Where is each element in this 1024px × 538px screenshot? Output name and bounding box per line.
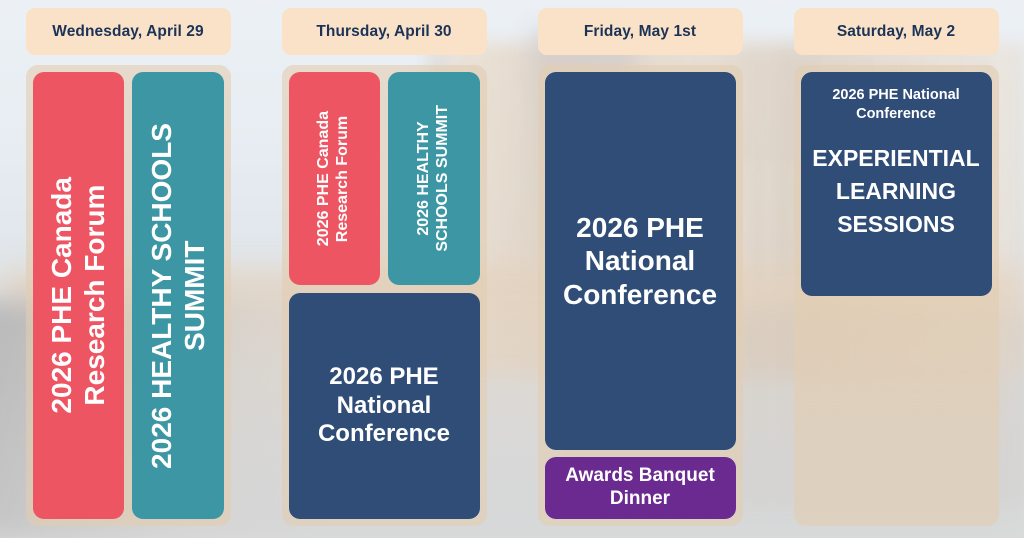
event-card-healthy-schools-summit[interactable]: 2026 HEALTHY SCHOOLS SUMMIT: [132, 72, 224, 519]
event-card-research-forum[interactable]: 2026 PHE Canada Research Forum: [33, 72, 125, 519]
event-card-label: 2026 PHE Canada Research Forum: [45, 177, 111, 414]
event-card-national-conference[interactable]: 2026 PHE National Conference: [289, 293, 480, 519]
event-card-label: 2026 PHE National Conference: [318, 363, 450, 449]
event-card-research-forum[interactable]: 2026 PHE Canada Research Forum: [289, 72, 381, 285]
event-card-label: 2026 HEALTHY SCHOOLS SUMMIT: [145, 123, 211, 469]
event-card-label: 2026 HEALTHY SCHOOLS SUMMIT: [415, 105, 453, 252]
event-card-subtitle: 2026 PHE National Conference: [832, 86, 959, 124]
day-columns: Wednesday, April 29 2026 PHE Canada Rese…: [0, 0, 1024, 538]
day-column-wednesday: Wednesday, April 29 2026 PHE Canada Rese…: [0, 8, 256, 526]
day-column-friday: Friday, May 1st 2026 PHE National Confer…: [512, 8, 768, 526]
event-panel-saturday: 2026 PHE National Conference EXPERIENTIA…: [794, 65, 999, 526]
schedule-graphic: Wednesday, April 29 2026 PHE Canada Rese…: [0, 0, 1024, 538]
day-column-saturday: Saturday, May 2 2026 PHE National Confer…: [768, 8, 1024, 526]
event-panel-friday: 2026 PHE National Conference Awards Banq…: [538, 65, 743, 526]
event-card-healthy-schools-summit[interactable]: 2026 HEALTHY SCHOOLS SUMMIT: [388, 72, 480, 285]
date-pill-thursday: Thursday, April 30: [282, 8, 487, 55]
event-card-awards-banquet-dinner[interactable]: Awards Banquet Dinner: [545, 457, 736, 519]
date-pill-friday: Friday, May 1st: [538, 8, 743, 55]
event-panel-wednesday: 2026 PHE Canada Research Forum 2026 HEAL…: [26, 65, 231, 526]
date-pill-saturday: Saturday, May 2: [794, 8, 999, 55]
day-column-thursday: Thursday, April 30 2026 PHE Canada Resea…: [256, 8, 512, 526]
event-card-label: 2026 PHE Canada Research Forum: [315, 111, 353, 246]
event-panel-thursday: 2026 PHE Canada Research Forum 2026 HEAL…: [282, 65, 487, 526]
event-card-label: 2026 PHE National Conference: [563, 211, 717, 312]
event-card-experiential-learning-sessions[interactable]: 2026 PHE National Conference EXPERIENTIA…: [801, 72, 992, 296]
event-card-national-conference[interactable]: 2026 PHE National Conference: [545, 72, 736, 450]
event-card-row: 2026 PHE Canada Research Forum 2026 HEAL…: [289, 72, 480, 285]
date-pill-wednesday: Wednesday, April 29: [26, 8, 231, 55]
event-card-label: Awards Banquet Dinner: [565, 465, 715, 511]
event-card-label: EXPERIENTIAL LEARNING SESSIONS: [812, 142, 979, 242]
